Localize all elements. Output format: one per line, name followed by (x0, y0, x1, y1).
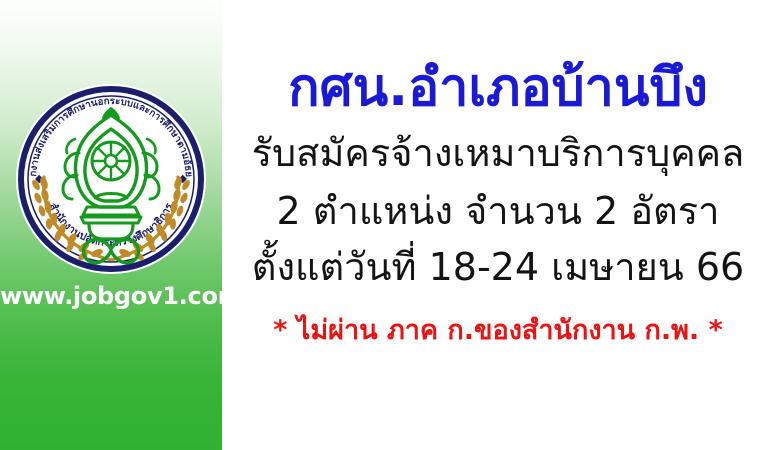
announcement-subtitle-vacancy-count: 2 ตำแหน่ง จำนวน 2 อัตรา (226, 192, 770, 230)
website-url-label: www.jobgov1.com (0, 282, 222, 310)
job-announcement-poster: สำนักงานส่งเสริมการศึกษานอกระบบและการศึก… (0, 0, 770, 450)
announcement-exemption-note: * ไม่ผ่าน ภาค ก.ของสำนักงาน ก.พ. * (226, 317, 770, 344)
announcement-title: กศน.อำเภอบ้านบึง (226, 62, 770, 114)
left-green-panel: สำนักงานส่งเสริมการศึกษานอกระบบและการศึก… (0, 0, 222, 450)
announcement-subtitle-position-type: รับสมัครจ้างเหมาบริการบุคคล (226, 134, 770, 172)
ministry-seal-emblem: สำนักงานส่งเสริมการศึกษานอกระบบและการศึก… (11, 79, 211, 279)
announcement-subtitle-application-dates: ตั้งแต่วันที่ 18-24 เมษายน 66 (226, 248, 770, 286)
right-text-panel: กศน.อำเภอบ้านบึง รับสมัครจ้างเหมาบริการบ… (222, 0, 770, 450)
